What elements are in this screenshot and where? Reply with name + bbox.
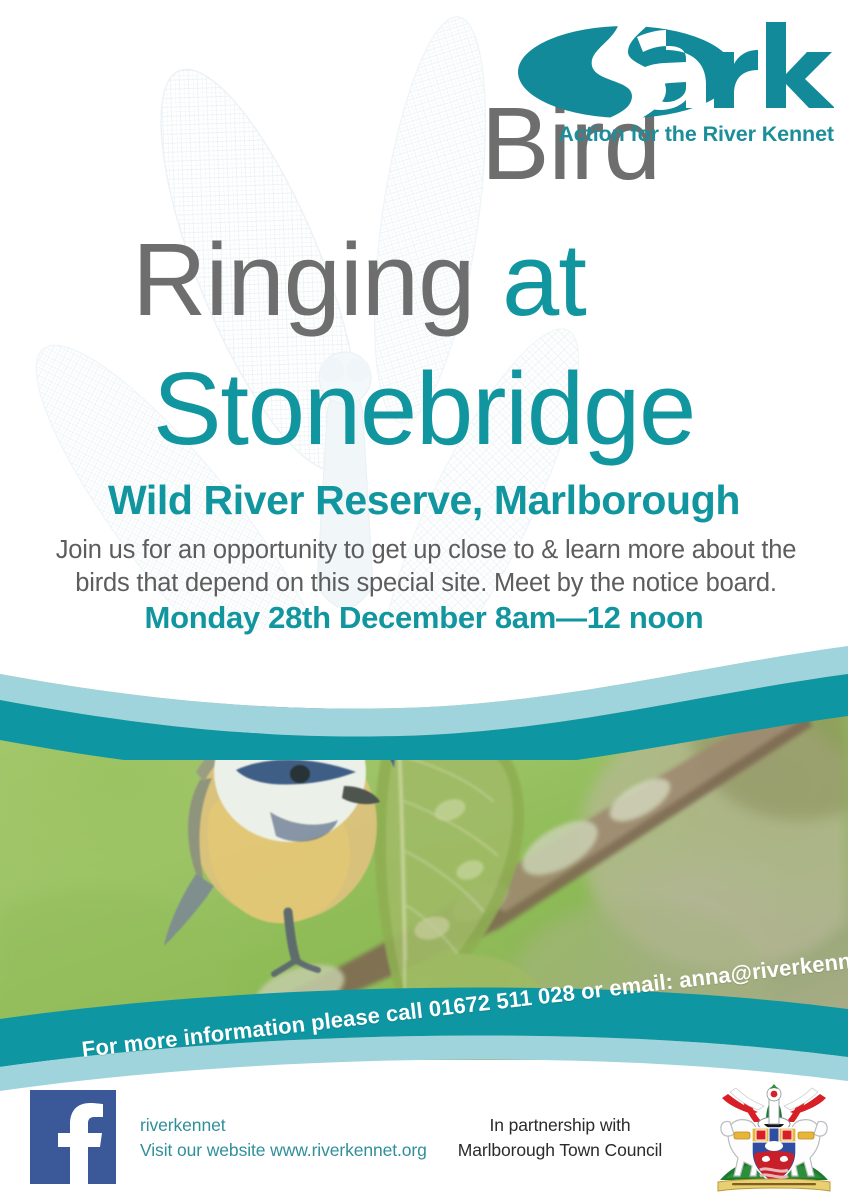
event-description: Join us for an opportunity to get up clo… bbox=[20, 534, 832, 600]
headline-at-word: at bbox=[502, 222, 586, 337]
blurb-line-1: Join us for an opportunity to get up clo… bbox=[56, 536, 797, 564]
ark-strapline: Action for the River Kennet bbox=[508, 122, 838, 147]
blurb-line-2: birds that depend on this special site. … bbox=[75, 569, 776, 597]
headline-line-ringing-at: Ringing at bbox=[0, 228, 848, 331]
venue-line: Wild River Reserve, Marlborough bbox=[0, 476, 848, 524]
partnership-line-2: Marlborough Town Council bbox=[420, 1138, 700, 1163]
partnership-text: In partnership with Marlborough Town Cou… bbox=[420, 1113, 700, 1163]
headline-ringing-word: Ringing bbox=[132, 222, 502, 337]
ark-logo-mark bbox=[516, 22, 834, 122]
facebook-icon[interactable] bbox=[30, 1090, 116, 1184]
event-datetime: Monday 28th December 8am—12 noon bbox=[0, 598, 848, 638]
ark-logo: Action for the River Kennet bbox=[508, 22, 838, 172]
headline-line-stonebridge: Stonebridge bbox=[0, 357, 848, 460]
partnership-line-1: In partnership with bbox=[420, 1113, 700, 1138]
marlborough-town-council-crest bbox=[712, 1084, 836, 1196]
poster-canvas: Action for the River Kennet Bird Ringing… bbox=[0, 0, 848, 1200]
